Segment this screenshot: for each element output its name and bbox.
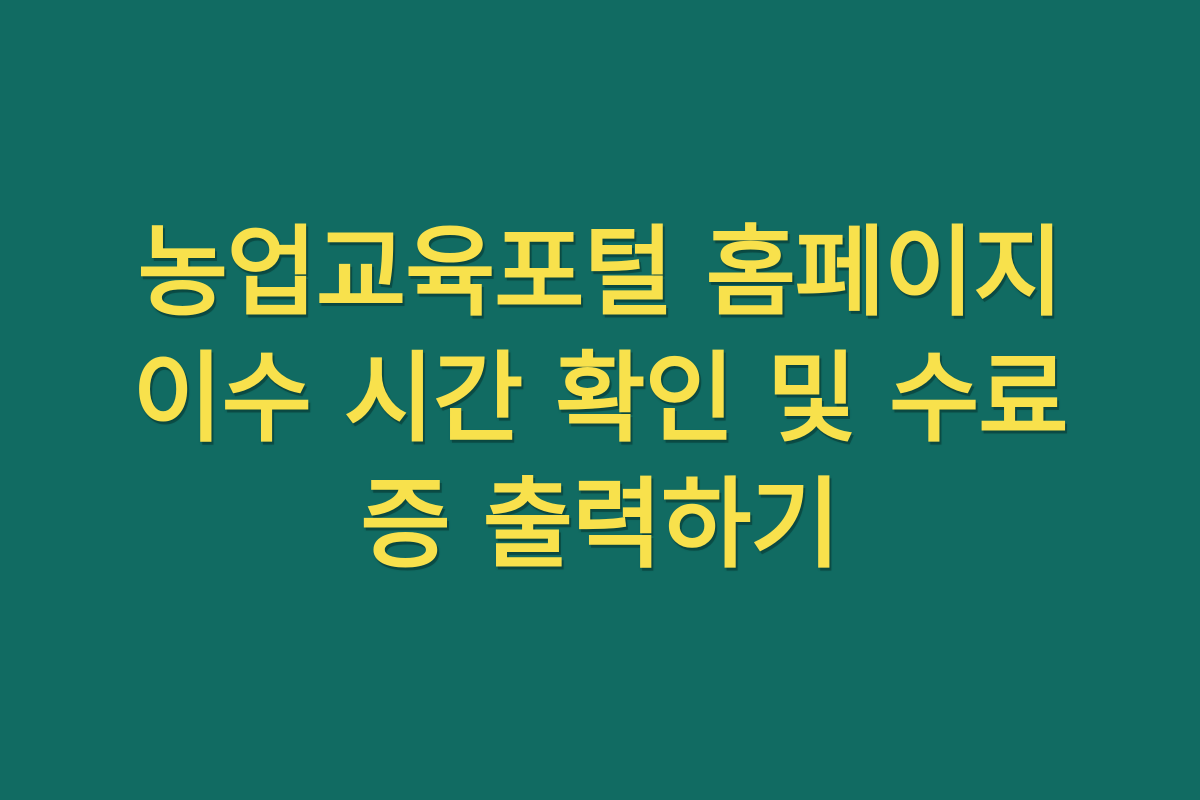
thumbnail-card: 농업교육포털 홈페이지 이수 시간 확인 및 수료 증 출력하기 [0, 0, 1200, 800]
headline-block: 농업교육포털 홈페이지 이수 시간 확인 및 수료 증 출력하기 [50, 210, 1150, 588]
headline-line-1: 농업교육포털 홈페이지 [50, 210, 1150, 336]
headline-line-2: 이수 시간 확인 및 수료 [50, 336, 1150, 462]
headline-line-3: 증 출력하기 [50, 462, 1150, 588]
